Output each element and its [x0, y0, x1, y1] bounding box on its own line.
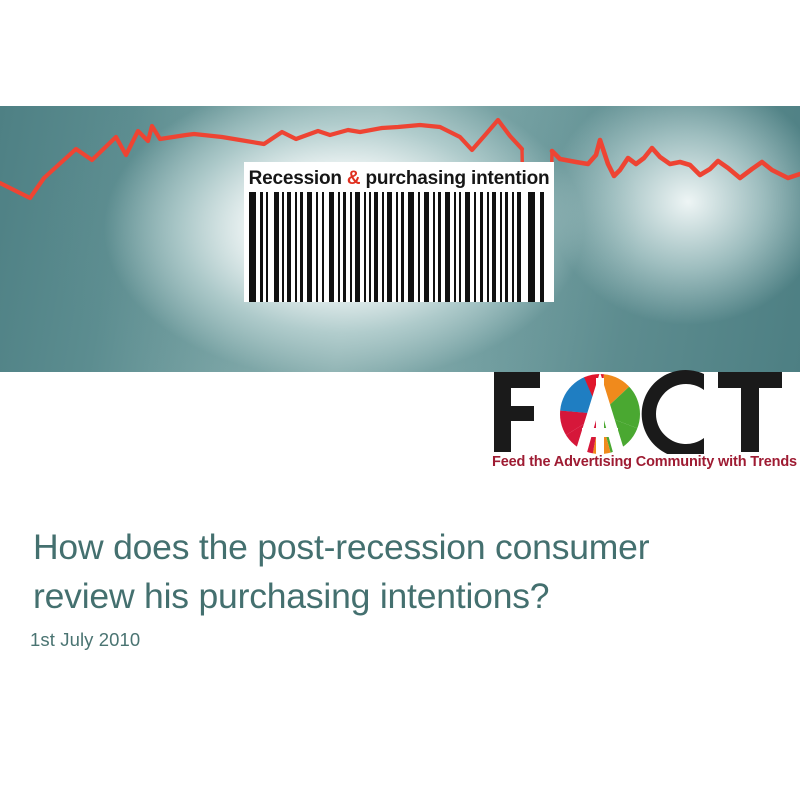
trend-line-right [552, 140, 800, 178]
barcode-graphic: Recession & purchasing intention [244, 162, 554, 302]
barcode-bars [244, 192, 554, 302]
barcode-title: Recession & purchasing intention [244, 165, 554, 193]
logo-letter-a-pie-icon [554, 370, 644, 454]
logo-letter-t [718, 372, 782, 452]
barcode-title-suffix: purchasing intention [360, 168, 549, 189]
logo-tagline: Feed the Advertising Community with Tren… [492, 454, 784, 470]
logo-letter-f [494, 372, 540, 452]
page-title-line-2: review his purchasing intentions? [33, 572, 763, 621]
fact-wordmark-icon [492, 370, 784, 454]
barcode-title-prefix: Recession [249, 168, 347, 189]
fact-logo: Feed the Advertising Community with Tren… [492, 370, 784, 478]
page-title-line-1: How does the post-recession consumer [33, 523, 763, 572]
hero-banner: Recession & purchasing intention [0, 106, 800, 372]
barcode-title-ampersand: & [347, 168, 361, 189]
page-title: How does the post-recession consumer rev… [33, 523, 763, 621]
logo-letter-c [642, 370, 704, 454]
publication-date: 1st July 2010 [30, 629, 140, 651]
